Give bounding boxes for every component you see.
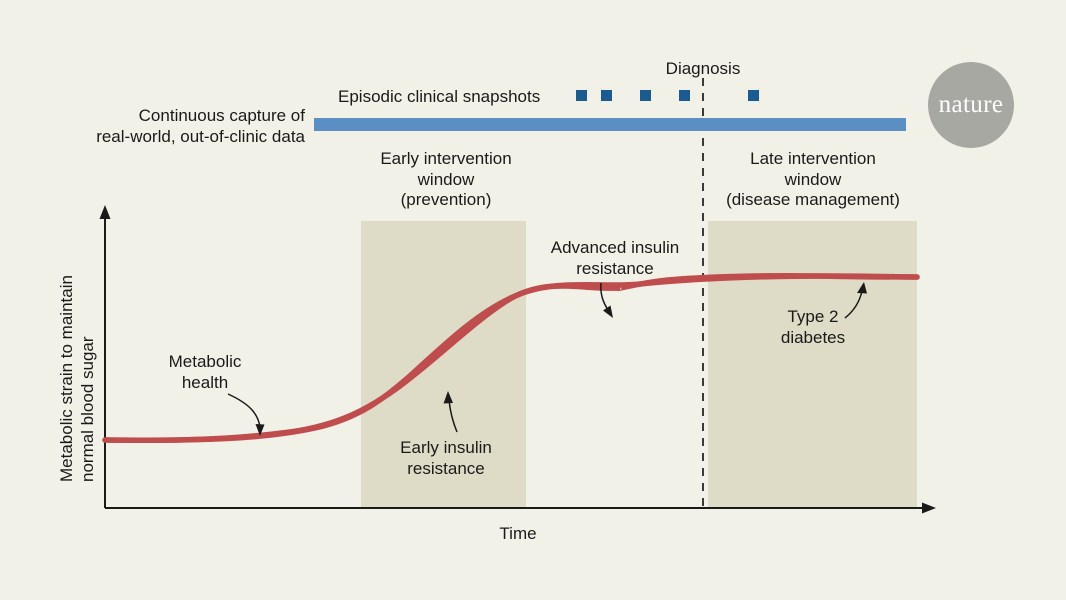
episodic-snapshots-label: Episodic clinical snapshots: [338, 87, 540, 108]
y-axis-label: Metabolic strain to maintain normal bloo…: [56, 182, 99, 482]
snapshot-marker: [640, 90, 651, 101]
continuous-capture-bar: [314, 118, 906, 131]
diagnosis-label: Diagnosis: [666, 59, 741, 80]
annotation-type-2-diabetes: Type 2 diabetes: [781, 307, 845, 348]
annotation-advanced-insulin-resistance: Advanced insulin resistance: [551, 238, 680, 279]
nature-logo: nature: [928, 62, 1014, 148]
snapshot-marker: [601, 90, 612, 101]
snapshot-marker: [748, 90, 759, 101]
x-axis-label: Time: [499, 524, 536, 545]
snapshot-marker: [679, 90, 690, 101]
x-axis-arrowhead: [922, 503, 936, 514]
late-intervention-window-label: Late intervention window (disease manage…: [726, 149, 900, 211]
advanced-insulin-arrowhead: [603, 306, 613, 319]
metabolic-health-arrow: [228, 394, 260, 427]
figure-canvas: Continuous capture of real-world, out-of…: [0, 0, 1066, 600]
annotation-early-insulin-resistance: Early insulin resistance: [400, 438, 492, 479]
snapshot-marker: [576, 90, 587, 101]
nature-logo-text: nature: [939, 91, 1004, 119]
continuous-capture-label: Continuous capture of real-world, out-of…: [0, 106, 305, 147]
late-intervention-band: [708, 221, 917, 508]
annotation-metabolic-health: Metabolic health: [169, 352, 242, 393]
y-axis-arrowhead: [100, 205, 111, 219]
early-intervention-window-label: Early intervention window (prevention): [380, 149, 511, 211]
